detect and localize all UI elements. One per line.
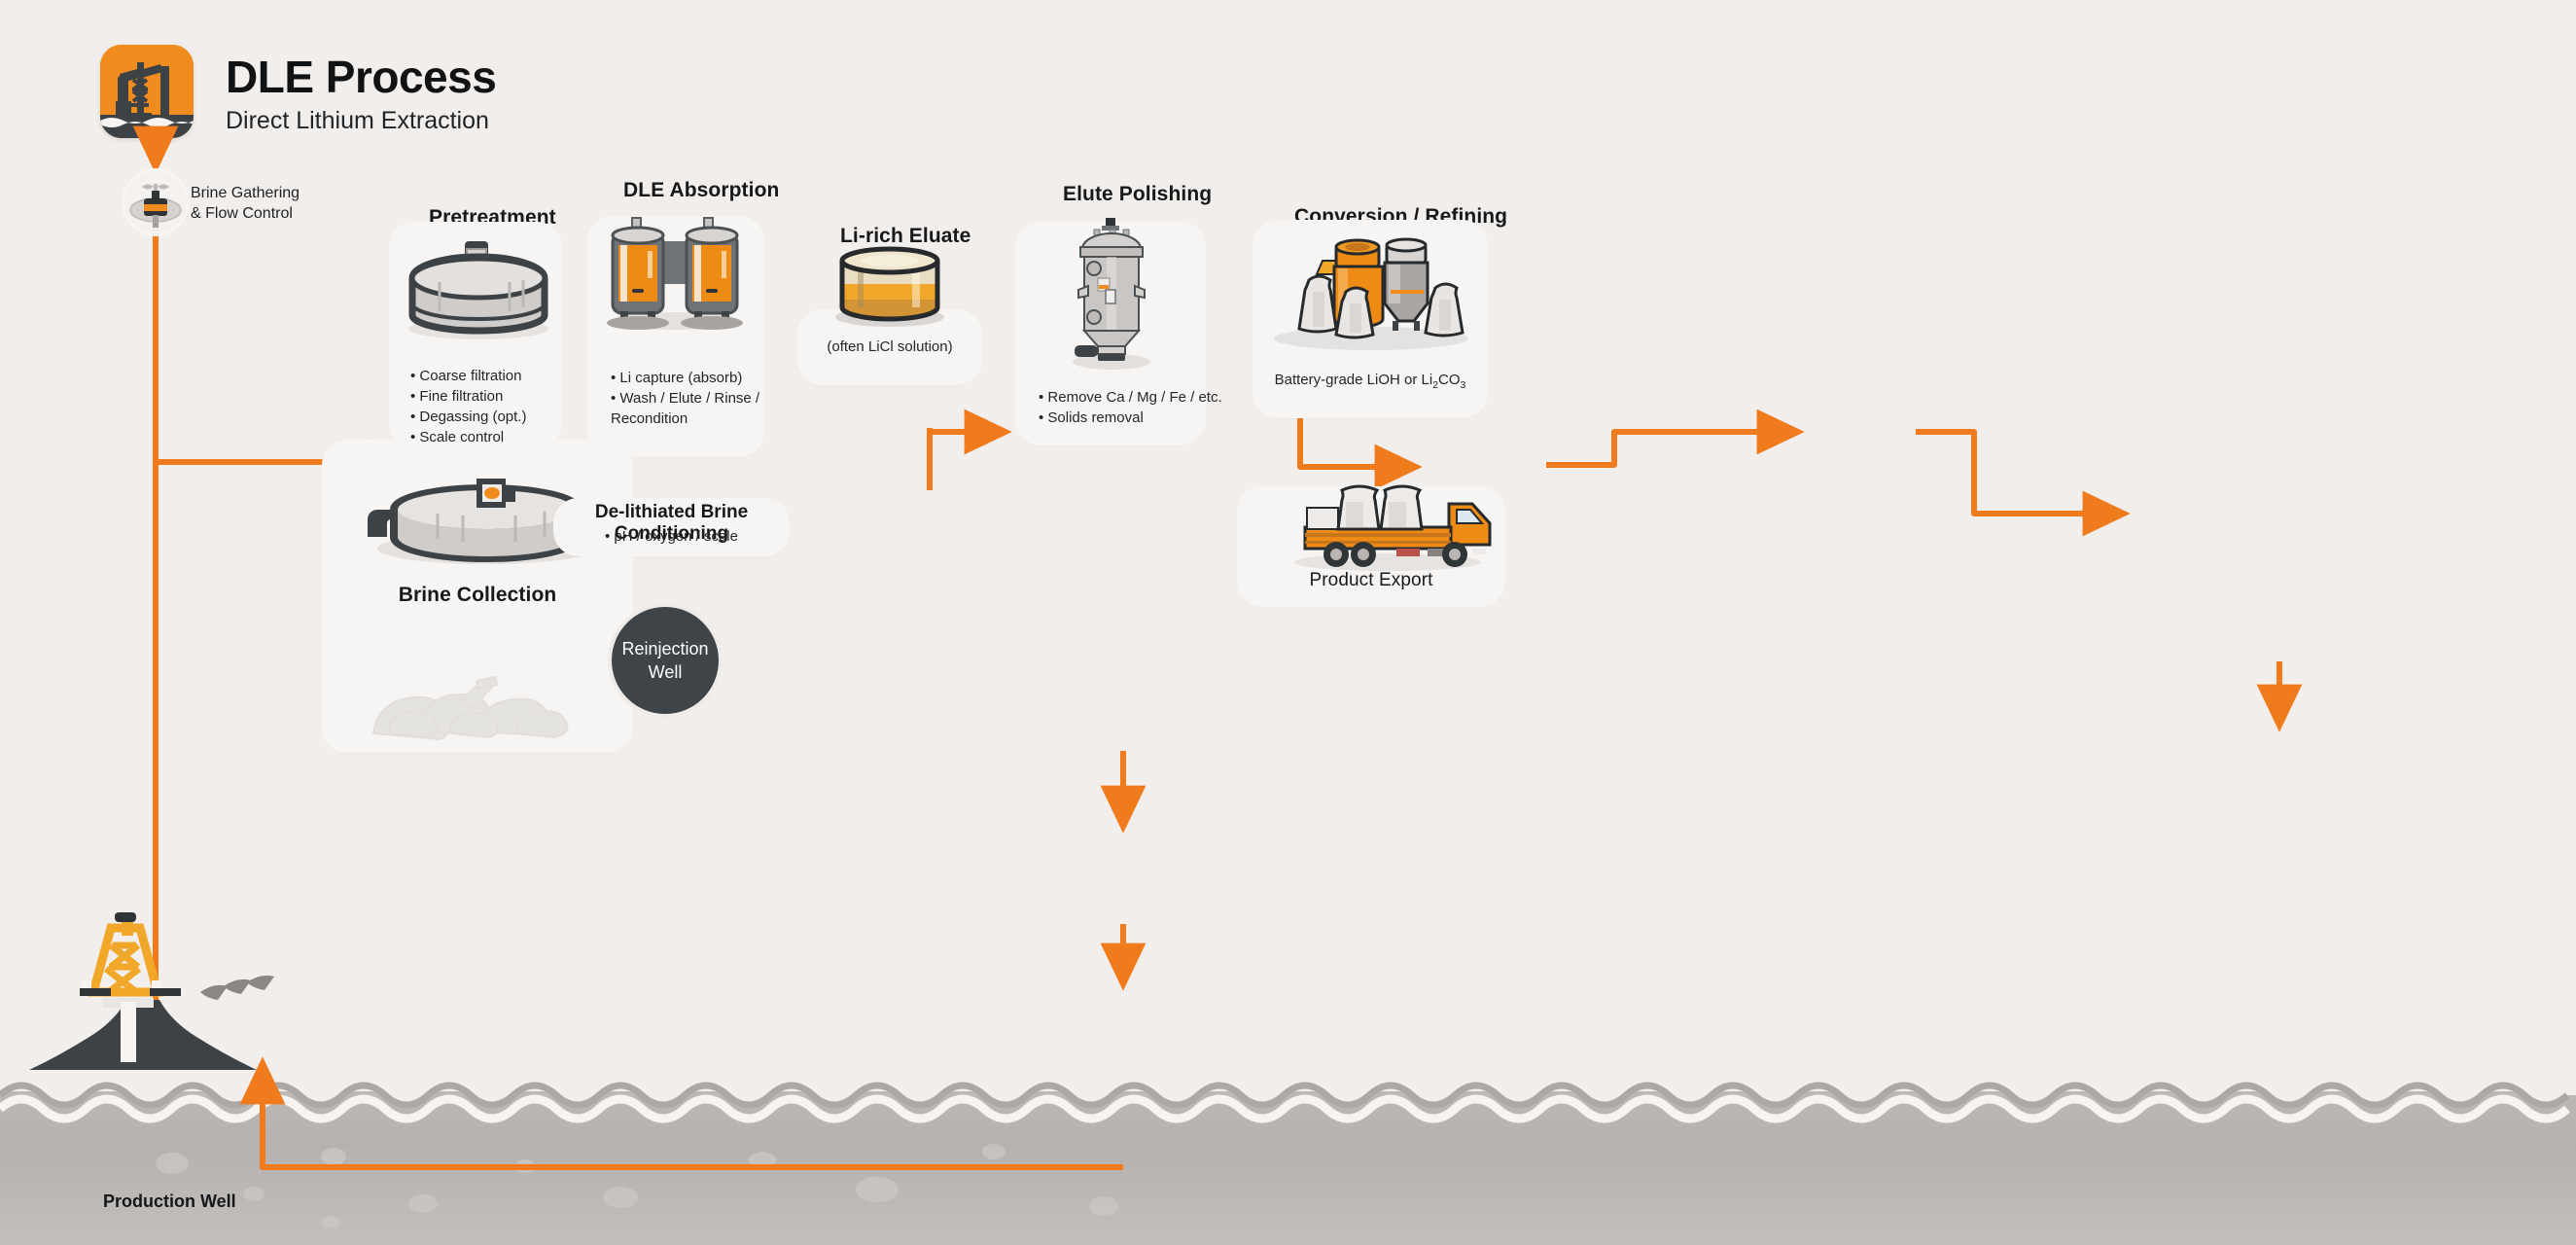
production-well-label: Production Well	[103, 1192, 236, 1212]
wellhead-valve-icon	[124, 171, 187, 233]
dle-absorption-title: DLE Absorption	[623, 179, 779, 202]
pumpjack-logo-icon	[100, 45, 194, 138]
filter-vessel-icon	[397, 235, 557, 344]
li-rich-eluate-note: (often LiCl solution)	[797, 338, 982, 355]
pressure-vessel-icon	[1065, 216, 1158, 372]
elute-polishing-title: Elute Polishing	[1063, 183, 1212, 206]
brine-collection-title: Brine Collection	[322, 584, 633, 607]
brine-gathering-label: Brine Gathering & Flow Control	[191, 183, 300, 224]
pretreatment-bullets: • Coarse filtration • Fine filtration • …	[410, 366, 526, 447]
dle-absorption-bullets: • Li capture (absorb) • Wash / Elute / R…	[611, 368, 759, 429]
twin-column-icon	[597, 216, 755, 333]
liquid-drum-icon	[829, 245, 951, 329]
ground-wave-icon	[0, 1070, 2576, 1128]
elute-polishing-bullets: • Remove Ca / Mg / Fe / etc. • Solids re…	[1039, 387, 1222, 428]
brine-conditioning-bullet: • pH / oxygen / scale	[553, 528, 790, 545]
drilling-rig-icon	[29, 895, 321, 1080]
page-title: DLE Process	[226, 51, 496, 103]
reinjection-well-label: Reinjection Well	[612, 637, 719, 684]
page-subtitle: Direct Lithium Extraction	[226, 107, 489, 135]
reactor-and-bags-icon	[1264, 237, 1478, 350]
ground-layer	[0, 1070, 2576, 1245]
reinjection-well-node[interactable]: Reinjection Well	[612, 607, 719, 714]
product-export-title: Product Export	[1237, 570, 1505, 591]
salt-rocks-icon	[346, 632, 609, 741]
delivery-truck-icon	[1282, 477, 1494, 574]
conversion-refining-note: Battery-grade LiOH or Li2CO3	[1253, 372, 1488, 391]
